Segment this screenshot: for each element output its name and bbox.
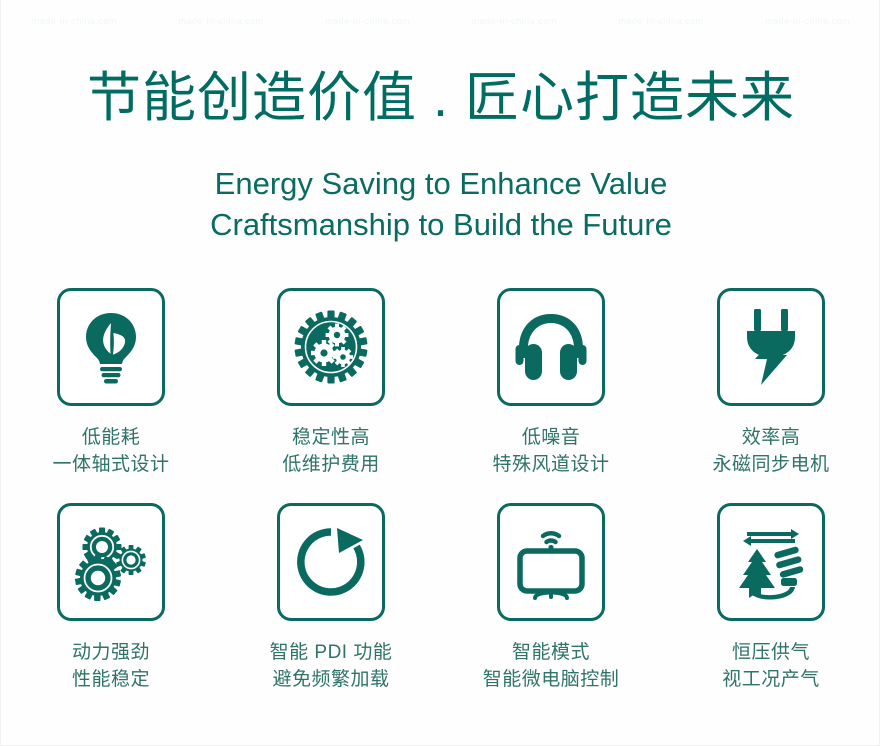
feature-label-line-1: 低能耗 xyxy=(82,427,141,448)
feature-label-line-2: 一体轴式设计 xyxy=(52,451,169,478)
three-gears-icon xyxy=(71,523,151,601)
icon-frame xyxy=(717,288,825,406)
feature-label-line-2: 低维护费用 xyxy=(282,451,380,478)
watermark-text: made-in-china.com xyxy=(325,16,410,26)
page-title: 节能创造价值 . 匠心打造未来 xyxy=(1,66,880,130)
feature-label-line-2: 智能微电脑控制 xyxy=(483,666,620,693)
watermark-text: made-in-china.com xyxy=(765,16,850,26)
feature-item: 低噪音 特殊风道设计 xyxy=(441,288,661,503)
feature-label: 稳定性高 低维护费用 xyxy=(282,424,380,478)
feature-item: 效率高 永磁同步电机 xyxy=(661,288,880,503)
monitor-wifi-icon xyxy=(511,524,591,600)
feature-label-line-1: 稳定性高 xyxy=(292,427,370,448)
feature-label-line-2: 避免频繁加载 xyxy=(270,666,393,693)
feature-label: 智能 PDI 功能 避免频繁加载 xyxy=(270,639,393,693)
icon-frame xyxy=(277,288,385,406)
feature-label-line-1: 智能模式 xyxy=(512,642,590,663)
icon-frame xyxy=(717,503,825,621)
feature-label: 恒压供气 视工况产气 xyxy=(722,639,820,693)
icon-frame xyxy=(277,503,385,621)
subtitle-line-1: Energy Saving to Enhance Value xyxy=(1,163,880,204)
feature-label-line-1: 效率高 xyxy=(742,427,801,448)
feature-item: 低能耗 一体轴式设计 xyxy=(1,288,221,503)
watermark-text: made-in-china.com xyxy=(178,16,263,26)
feature-label-line-1: 动力强劲 xyxy=(72,642,150,663)
icon-frame xyxy=(57,288,165,406)
watermark-text: made-in-china.com xyxy=(472,16,557,26)
feature-item: 动力强劲 性能稳定 xyxy=(1,503,221,718)
feature-label-line-2: 永磁同步电机 xyxy=(712,451,829,478)
feature-label: 低噪音 特殊风道设计 xyxy=(492,424,609,478)
feature-label-line-2: 性能稳定 xyxy=(72,666,150,693)
feature-label: 效率高 永磁同步电机 xyxy=(712,424,829,478)
feature-label-line-1: 低噪音 xyxy=(522,427,581,448)
lightbulb-leaf-icon xyxy=(75,309,147,385)
feature-item: 智能模式 智能微电脑控制 xyxy=(441,503,661,718)
watermark-text: made-in-china.com xyxy=(32,16,117,26)
icon-frame xyxy=(57,503,165,621)
feature-label: 智能模式 智能微电脑控制 xyxy=(483,639,620,693)
feature-label-line-2: 特殊风道设计 xyxy=(492,451,609,478)
feature-label: 动力强劲 性能稳定 xyxy=(72,639,150,693)
feature-label-line-1: 智能 PDI 功能 xyxy=(270,642,393,663)
icon-frame xyxy=(497,288,605,406)
power-plug-lightning-icon xyxy=(739,307,803,387)
feature-item: 智能 PDI 功能 避免频繁加载 xyxy=(221,503,441,718)
icon-frame xyxy=(497,503,605,621)
subtitle-line-2: Craftsmanship to Build the Future xyxy=(1,204,880,245)
feature-label-line-2: 视工况产气 xyxy=(722,666,820,693)
feature-label-line-1: 恒压供气 xyxy=(732,642,810,663)
feature-item: 稳定性高 低维护费用 xyxy=(221,288,441,503)
gear-cluster-circle-icon xyxy=(293,309,369,385)
refresh-circular-arrow-icon xyxy=(295,526,367,598)
headphones-icon xyxy=(513,312,589,382)
watermark-strip: made-in-china.com made-in-china.com made… xyxy=(1,8,880,34)
feature-label: 低能耗 一体轴式设计 xyxy=(52,424,169,478)
feature-item: 恒压供气 视工况产气 xyxy=(661,503,880,718)
tree-cfl-bulb-exchange-icon xyxy=(733,521,809,603)
watermark-text: made-in-china.com xyxy=(618,16,703,26)
feature-grid: 低能耗 一体轴式设计 xyxy=(1,288,880,718)
page-subtitle: Energy Saving to Enhance Value Craftsman… xyxy=(1,163,880,245)
promo-banner: made-in-china.com made-in-china.com made… xyxy=(0,0,880,746)
